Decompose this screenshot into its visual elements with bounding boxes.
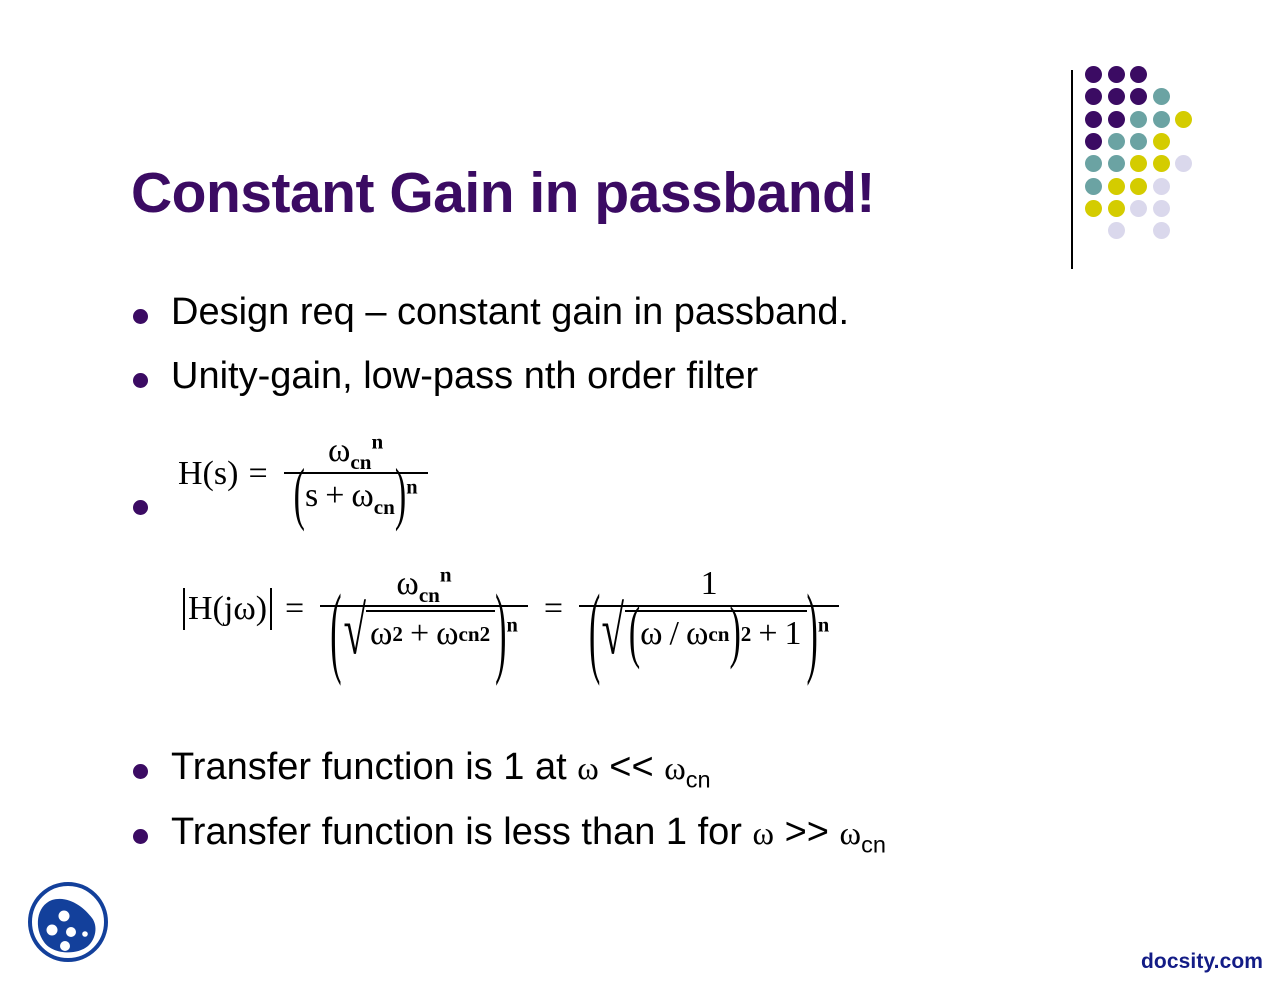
decorative-dot <box>1153 178 1170 195</box>
slide-canvas: Constant Gain in passband! Design req – … <box>0 0 1280 989</box>
decorative-dot <box>1130 155 1147 172</box>
bullet-5-prefix: Transfer function is less than 1 for <box>171 811 753 853</box>
decorative-dot <box>1130 133 1147 150</box>
bullet-marker-icon <box>133 500 148 515</box>
header-dot-grid <box>1085 66 1215 266</box>
radical-sign-icon: √ <box>343 597 366 665</box>
decorative-dot <box>1108 111 1125 128</box>
eq1-den-open-paren: ( <box>294 457 305 535</box>
bullet-4-prefix: Transfer function is 1 at <box>171 746 577 788</box>
decorative-dot <box>1153 222 1170 239</box>
eq2-den2-one: 1 <box>785 615 802 653</box>
eq2-den2-plus: + <box>758 615 777 653</box>
bullet-item-4: Transfer function is 1 at ω << ωcn <box>133 748 711 786</box>
bullet-4-omega-2-sub: cn <box>686 767 711 793</box>
eq1-num-sup: n <box>371 430 383 454</box>
eq2-fraction-2: 1 (√(ω/ωcn)2+1)n <box>579 565 839 653</box>
eq2-den2-omega: ω <box>640 615 662 653</box>
eq2-den2-sup: n <box>818 615 829 637</box>
eq2-abs-bar-right <box>270 588 272 631</box>
eq2-fraction-1: ωcnn (√ω2+ωcn2)n <box>320 565 528 653</box>
decorative-dot <box>1175 155 1192 172</box>
decorative-dot <box>1085 200 1102 217</box>
bullet-4-omega-2: ω <box>664 751 686 787</box>
eq2-den2-inner-open: ( <box>629 595 640 673</box>
eq1-num-omega: ω <box>328 432 350 469</box>
eq1-denominator: (s+ωcn)n <box>284 474 428 515</box>
bullet-item-3-equation-marker <box>133 500 171 515</box>
eq1-den-omega: ω <box>351 477 373 514</box>
decorative-dot <box>1108 222 1125 239</box>
decorative-dot <box>1153 88 1170 105</box>
eq1-den-omega-sub: cn <box>374 495 395 519</box>
eq2-den1-close-paren: ) <box>495 577 506 691</box>
eq1-den-s: s <box>305 477 318 514</box>
eq2-num-omega: ω <box>396 565 418 602</box>
eq2-den2-inner-close: ) <box>729 595 740 673</box>
bullet-label-5: Transfer function is less than 1 for ω >… <box>171 813 886 851</box>
eq2-den2-radical: √(ω/ωcn)2+1 <box>602 610 806 653</box>
bullet-item-1: Design req – constant gain in passband. <box>133 293 849 331</box>
bullet-label-4: Transfer function is 1 at ω << ωcn <box>171 748 711 786</box>
decorative-dot <box>1153 155 1170 172</box>
bullet-label-2: Unity-gain, low-pass nth order filter <box>171 357 758 395</box>
eq2-den1-open-paren: ( <box>330 577 341 691</box>
decorative-dot <box>1130 88 1147 105</box>
equation-transfer-function: H(s) = ωcnn (s+ωcn)n <box>178 432 434 515</box>
eq2-den1-omega2: ω <box>436 615 458 653</box>
bullet-4-relation: << <box>599 746 665 788</box>
eq1-equals: = <box>248 455 267 493</box>
bullet-5-omega-2: ω <box>840 816 862 852</box>
bullet-item-2: Unity-gain, low-pass nth order filter <box>133 357 758 395</box>
header-divider-line <box>1071 70 1073 269</box>
eq2-den2-open-paren: ( <box>589 577 600 691</box>
eq2-equals-2: = <box>544 590 563 628</box>
decorative-dot <box>1153 133 1170 150</box>
bullet-label-1: Design req – constant gain in passband. <box>171 293 849 331</box>
bullet-4-omega: ω <box>577 751 599 787</box>
decorative-dot <box>1085 111 1102 128</box>
eq2-den2-slash: / <box>670 615 679 653</box>
docsity-url-label: docsity.com <box>1141 950 1263 974</box>
docsity-logo-icon <box>22 876 118 972</box>
decorative-dot <box>1108 66 1125 83</box>
decorative-dot <box>1085 88 1102 105</box>
decorative-dot <box>1085 178 1102 195</box>
bullet-item-5: Transfer function is less than 1 for ω >… <box>133 813 886 851</box>
eq2-numerator-1: ωcnn <box>386 565 461 605</box>
decorative-dot <box>1130 66 1147 83</box>
decorative-dot <box>1153 200 1170 217</box>
decorative-dot <box>1085 133 1102 150</box>
decorative-dot <box>1085 66 1102 83</box>
eq2-den2-close-paren: ) <box>807 577 818 691</box>
eq2-den1-sup: n <box>507 615 518 637</box>
decorative-dot <box>1108 178 1125 195</box>
eq2-den1-radicand: ω2+ωcn2 <box>366 610 495 653</box>
decorative-dot <box>1085 155 1102 172</box>
eq2-abs-bar-left <box>183 588 185 631</box>
eq2-lhs-H: H(j <box>188 590 233 628</box>
eq2-lhs-omega: ω <box>233 590 255 628</box>
eq2-denominator-1: (√ω2+ωcn2)n <box>320 607 528 653</box>
decorative-dot <box>1108 155 1125 172</box>
bullet-marker-icon <box>133 373 148 388</box>
radical-sign-icon: √ <box>602 597 625 665</box>
eq1-num-sub: cn <box>350 450 371 474</box>
eq1-numerator: ωcnn <box>318 432 393 472</box>
decorative-dot <box>1153 111 1170 128</box>
eq2-den2-radicand: (ω/ωcn)2+1 <box>625 610 807 653</box>
eq2-lhs-close: ) <box>256 590 267 628</box>
eq2-equals-1: = <box>285 590 304 628</box>
eq1-lhs: H(s) <box>178 455 238 493</box>
decorative-dot <box>1130 178 1147 195</box>
bullet-marker-icon <box>133 309 148 324</box>
eq2-num-sup: n <box>440 563 452 587</box>
page-title: Constant Gain in passband! <box>131 164 1031 224</box>
bullet-marker-icon <box>133 829 148 844</box>
eq1-den-sup: n <box>406 477 417 499</box>
bullet-5-relation: >> <box>774 811 840 853</box>
eq1-fraction: ωcnn (s+ωcn)n <box>284 432 428 515</box>
eq2-den1-radical: √ω2+ωcn2 <box>344 610 496 653</box>
eq1-den-close-paren: ) <box>395 457 406 535</box>
decorative-dot <box>1108 88 1125 105</box>
decorative-dot <box>1130 200 1147 217</box>
decorative-dot <box>1130 111 1147 128</box>
eq2-numerator-2: 1 <box>691 565 728 605</box>
eq2-num-sub: cn <box>419 583 440 607</box>
equation-magnitude-response: H(j ω ) = ωcnn (√ω2+ωcn2)n = 1 (√(ω/ωcn)… <box>180 565 845 653</box>
eq2-denominator-2: (√(ω/ωcn)2+1)n <box>579 607 839 653</box>
decorative-dot <box>1175 111 1192 128</box>
bullet-marker-icon <box>133 764 148 779</box>
decorative-dot <box>1108 133 1125 150</box>
decorative-dot <box>1108 200 1125 217</box>
eq1-den-plus: + <box>325 477 344 514</box>
eq2-den1-omega: ω <box>370 615 392 653</box>
eq2-den1-plus: + <box>410 615 429 653</box>
eq2-den2-omega-cn: ω <box>686 615 708 653</box>
bullet-5-omega: ω <box>753 816 775 852</box>
bullet-5-omega-2-sub: cn <box>861 832 886 858</box>
